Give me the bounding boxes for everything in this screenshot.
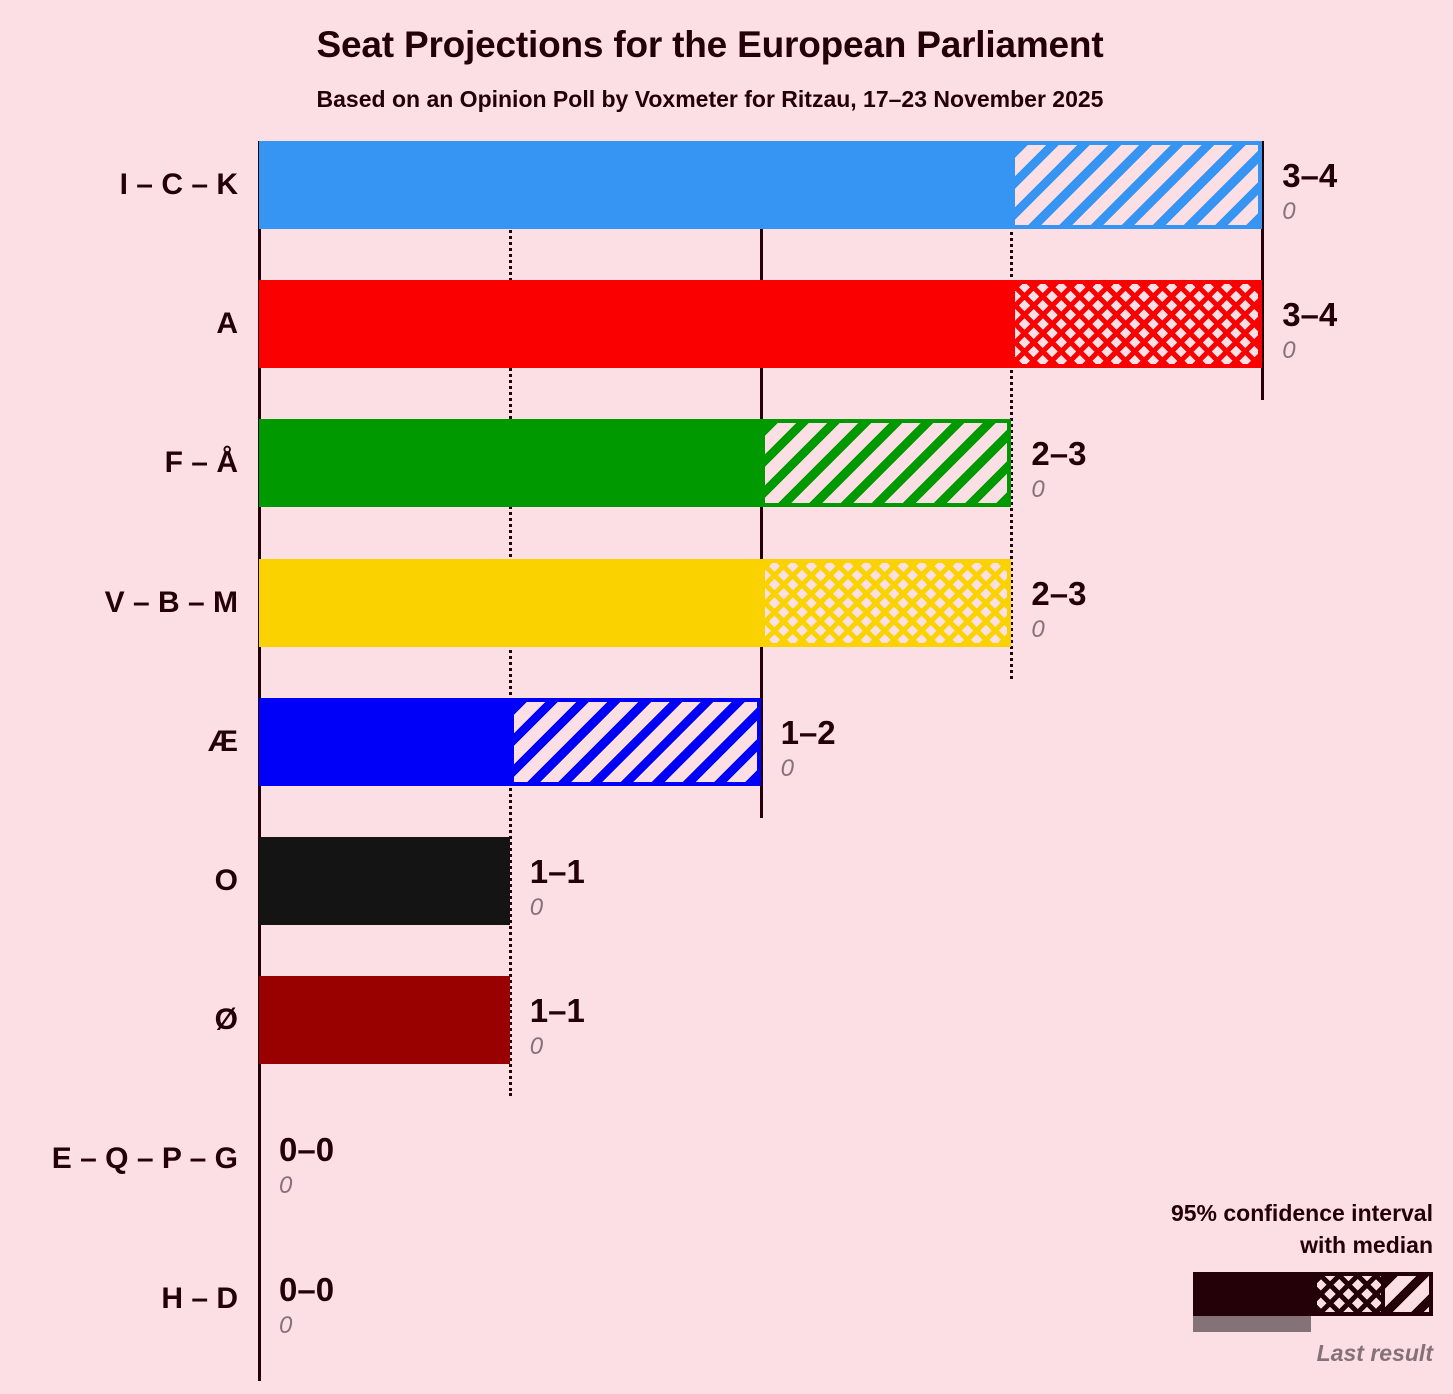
category-label-7: Ø [8, 976, 238, 1064]
value-range-8: 0–0 [279, 1131, 334, 1169]
value-range-5: 1–2 [781, 714, 836, 752]
last-result-7: 0 [530, 1033, 543, 1061]
value-range-1: 3–4 [1282, 157, 1337, 195]
legend-line-2: with median [1300, 1232, 1433, 1259]
last-result-5: 0 [781, 755, 794, 783]
category-label-4: V – B – M [8, 559, 238, 647]
bar-confidence-interval [1011, 280, 1262, 368]
last-result-1: 0 [1282, 198, 1295, 226]
bar-row-6 [259, 837, 510, 925]
last-result-6: 0 [530, 894, 543, 922]
legend-last-result-label: Last result [1317, 1340, 1433, 1367]
value-range-7: 1–1 [530, 992, 585, 1030]
bar-row-7 [259, 976, 510, 1064]
bar-confidence-interval [761, 419, 1012, 507]
chart-root: Seat Projections for the European Parlia… [0, 0, 1453, 1394]
legend-last-result-bar [1193, 1316, 1311, 1332]
bar-median-fill [259, 837, 510, 925]
last-result-9: 0 [279, 1312, 292, 1340]
category-label-3: F – Å [8, 419, 238, 507]
bar-row-1 [259, 141, 1262, 229]
last-result-4: 0 [1031, 616, 1044, 644]
category-label-5: Æ [8, 698, 238, 786]
category-label-8: E – Q – P – G [8, 1115, 238, 1203]
bar-median-fill [259, 559, 761, 647]
last-result-2: 0 [1282, 337, 1295, 365]
bar-median-fill [259, 419, 761, 507]
bar-row-5 [259, 698, 761, 786]
legend-median-segment [1193, 1272, 1317, 1316]
bar-confidence-interval [761, 559, 1012, 647]
category-label-6: O [8, 837, 238, 925]
value-range-4: 2–3 [1031, 575, 1086, 613]
bar-row-2 [259, 280, 1262, 368]
bar-confidence-interval [510, 698, 761, 786]
value-range-6: 1–1 [530, 853, 585, 891]
chart-title: Seat Projections for the European Parlia… [0, 24, 1420, 66]
category-label-1: I – C – K [8, 141, 238, 229]
last-result-8: 0 [279, 1172, 292, 1200]
value-range-3: 2–3 [1031, 435, 1086, 473]
legend-bar [1193, 1272, 1433, 1316]
bar-median-fill [259, 280, 1011, 368]
legend-cross-segment [1317, 1272, 1385, 1316]
bar-row-4 [259, 559, 1011, 647]
category-label-9: H – D [8, 1255, 238, 1343]
bar-median-fill [259, 141, 1011, 229]
legend-line-1: 95% confidence interval [1171, 1200, 1433, 1227]
bar-median-fill [259, 976, 510, 1064]
bar-confidence-interval [1011, 141, 1262, 229]
legend-diagonal-segment [1385, 1272, 1433, 1316]
chart-subtitle: Based on an Opinion Poll by Voxmeter for… [0, 86, 1420, 113]
bar-median-fill [259, 698, 510, 786]
bar-row-3 [259, 419, 1011, 507]
last-result-3: 0 [1031, 476, 1044, 504]
value-range-9: 0–0 [279, 1271, 334, 1309]
value-range-2: 3–4 [1282, 296, 1337, 334]
category-label-2: A [8, 280, 238, 368]
